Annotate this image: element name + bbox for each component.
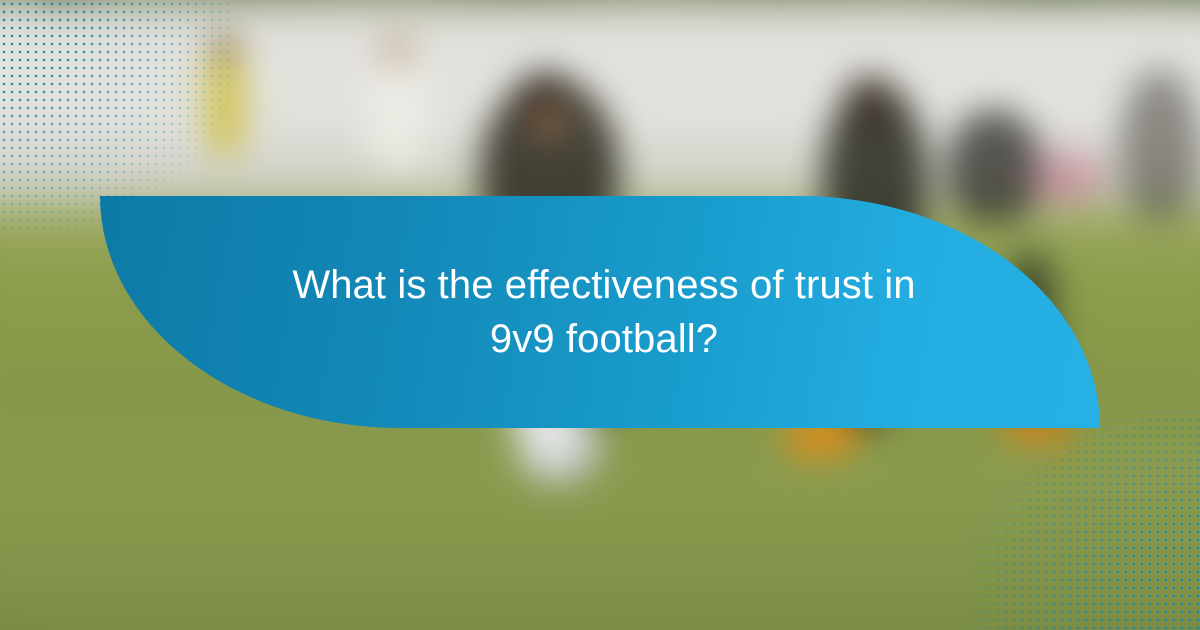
title-banner: What is the effectiveness of trust in 9v… [100, 196, 1100, 428]
social-card-canvas: What is the effectiveness of trust in 9v… [0, 0, 1200, 630]
page-title: What is the effectiveness of trust in 9v… [250, 258, 950, 366]
